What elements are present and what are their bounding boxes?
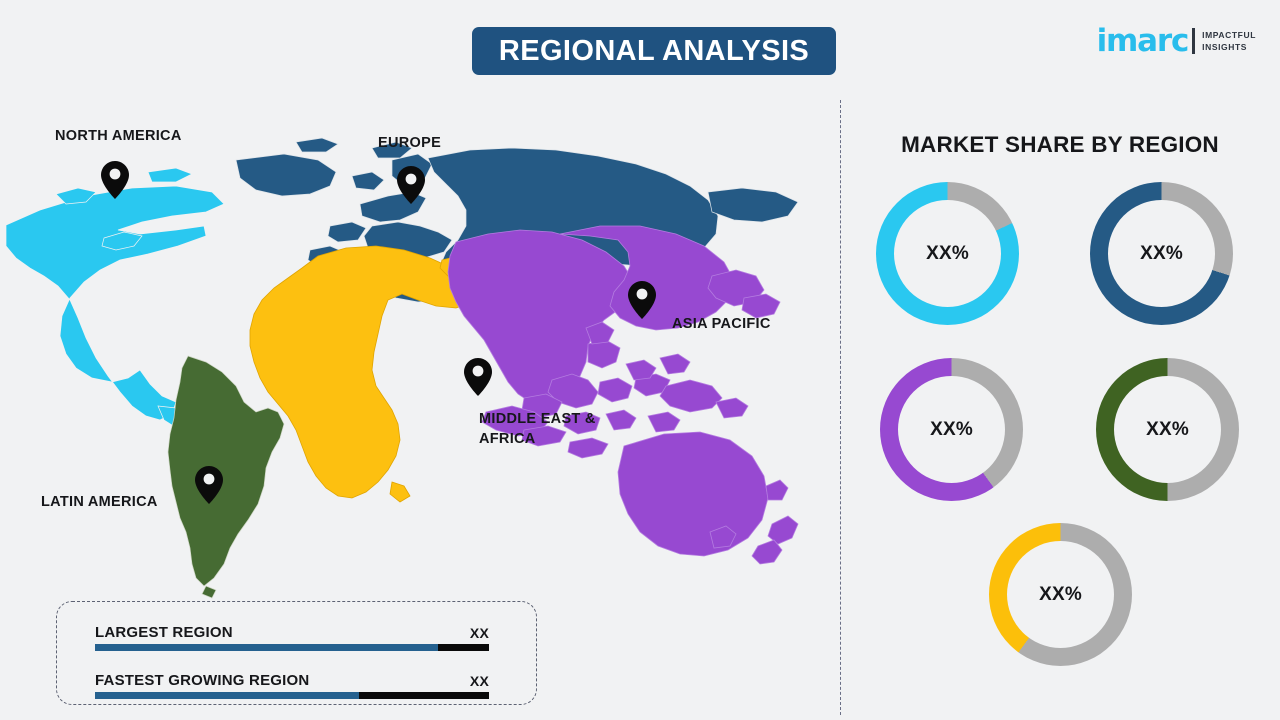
map-region-latin-america bbox=[168, 356, 284, 598]
logo-tagline-line1: IMPACTFUL bbox=[1202, 29, 1256, 41]
panel-title-market-share: MARKET SHARE BY REGION bbox=[840, 132, 1280, 158]
map-pin-icon-middle-east-africa[interactable] bbox=[463, 357, 493, 397]
map-label-middle-east-africa: MIDDLE EAST & AFRICA bbox=[479, 409, 596, 449]
map-label-asia-pacific: ASIA PACIFIC bbox=[672, 314, 771, 334]
donut-value-label: XX% bbox=[1146, 419, 1189, 441]
legend-label: FASTEST GROWING REGION bbox=[95, 672, 309, 689]
donut-center: XX% bbox=[1007, 541, 1114, 648]
donut-chart-europe: XX% bbox=[1090, 182, 1233, 325]
map-label-latin-america: LATIN AMERICA bbox=[41, 492, 158, 512]
donut-value-label: XX% bbox=[1039, 584, 1082, 606]
page-title-banner: REGIONAL ANALYSIS bbox=[472, 27, 836, 75]
donut-center: XX% bbox=[1114, 376, 1221, 483]
donut-chart-asia-pacific: XX% bbox=[880, 358, 1023, 501]
donut-value-label: XX% bbox=[930, 419, 973, 441]
map-pin-glyph bbox=[463, 357, 493, 397]
map-pin-glyph bbox=[627, 280, 657, 320]
legend-head: FASTEST GROWING REGION XX bbox=[95, 672, 489, 689]
logo-divider bbox=[1192, 28, 1195, 54]
legend-row-fastest-growing-region: FASTEST GROWING REGION XX bbox=[95, 672, 489, 699]
logo-wordmark: imarc bbox=[1097, 26, 1189, 57]
map-pin-glyph bbox=[396, 165, 426, 205]
regional-analysis-infographic: REGIONAL ANALYSIS imarc IMPACTFUL INSIGH… bbox=[0, 0, 1280, 720]
legend-row-largest-region: LARGEST REGION XX bbox=[95, 624, 489, 651]
region-summary-box: LARGEST REGION XX FASTEST GROWING REGION… bbox=[56, 601, 537, 705]
donut-value-label: XX% bbox=[1140, 243, 1183, 265]
map-pin-glyph bbox=[194, 465, 224, 505]
map-pin-icon-europe[interactable] bbox=[396, 165, 426, 205]
logo-tagline: IMPACTFUL INSIGHTS bbox=[1202, 29, 1256, 54]
map-region-asia-pacific bbox=[448, 226, 798, 564]
donut-value-label: XX% bbox=[926, 243, 969, 265]
legend-label: LARGEST REGION bbox=[95, 624, 233, 641]
panel-divider bbox=[840, 100, 841, 715]
legend-progress-track bbox=[95, 692, 489, 699]
legend-progress-track bbox=[95, 644, 489, 651]
donut-chart-north-america: XX% bbox=[876, 182, 1019, 325]
map-pin-glyph bbox=[100, 160, 130, 200]
legend-progress-fill bbox=[95, 644, 438, 651]
legend-value: XX bbox=[470, 625, 489, 641]
logo-tagline-line2: INSIGHTS bbox=[1202, 41, 1256, 53]
map-label-north-america: NORTH AMERICA bbox=[55, 126, 182, 146]
map-pin-icon-latin-america[interactable] bbox=[194, 465, 224, 505]
donut-center: XX% bbox=[898, 376, 1005, 483]
map-pin-icon-asia-pacific[interactable] bbox=[627, 280, 657, 320]
legend-head: LARGEST REGION XX bbox=[95, 624, 489, 641]
donut-center: XX% bbox=[894, 200, 1001, 307]
page-title: REGIONAL ANALYSIS bbox=[499, 35, 809, 68]
market-share-donut-grid: XX% XX% XX% XX% XX% bbox=[858, 182, 1262, 692]
legend-value: XX bbox=[470, 673, 489, 689]
legend-progress-fill bbox=[95, 692, 359, 699]
map-label-europe: EUROPE bbox=[378, 133, 441, 153]
donut-center: XX% bbox=[1108, 200, 1215, 307]
donut-chart-latin-america: XX% bbox=[1096, 358, 1239, 501]
map-pin-icon-north-america[interactable] bbox=[100, 160, 130, 200]
imarc-logo: imarc IMPACTFUL INSIGHTS bbox=[1097, 24, 1256, 58]
donut-chart-middle-east-africa: XX% bbox=[989, 523, 1132, 666]
